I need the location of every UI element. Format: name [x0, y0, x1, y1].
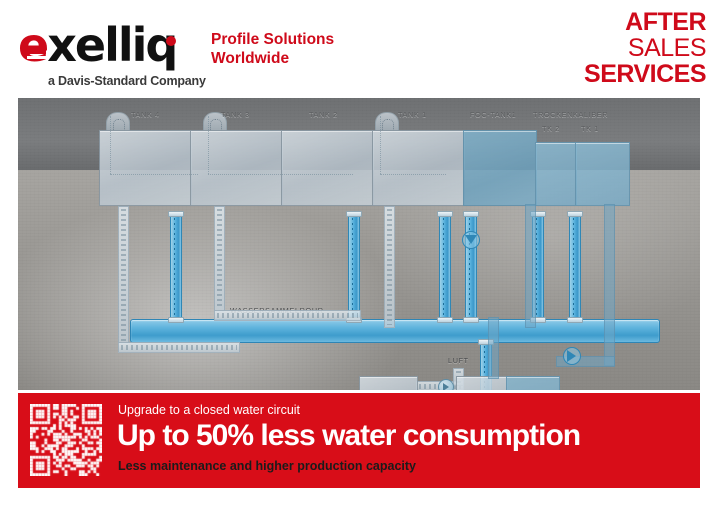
label-tank-2: TANK 2: [309, 110, 338, 119]
tank-1-body: [372, 130, 465, 206]
zyklontank-body: [359, 376, 418, 390]
banner-kicker: Upgrade to a closed water circuit: [118, 403, 300, 417]
logo-e-bar: [27, 50, 46, 54]
after-sales-line-3: SERVICES: [584, 61, 706, 87]
after-sales-line-1: AFTER: [584, 9, 706, 35]
riser-tk1: [569, 213, 581, 321]
logo-e-bar-gap: [27, 56, 46, 59]
banner-subline: Less maintenance and higher production c…: [118, 459, 416, 473]
logo-i-dot: [166, 36, 176, 46]
label-tk-1: TK 1: [581, 124, 599, 133]
trockenkaliber-tk2-body: [535, 142, 577, 206]
blue-loop-valve-icon: [563, 347, 581, 365]
promo-banner: Upgrade to a closed water circuit Up to …: [18, 393, 700, 488]
riser-tank2: [348, 213, 360, 321]
exelliq-logo: exelliq a Davis-Standard Company: [18, 22, 208, 84]
tank1-internal-flow-hint: [380, 116, 381, 174]
page-header: exelliq a Davis-Standard Company Profile…: [0, 0, 720, 98]
label-luft: LUFT: [448, 356, 469, 365]
process-diagram: TANK 4 TANK 3 TANK 2 TANK 1 FOC-TANK1 TR…: [18, 98, 700, 390]
tank1-internal-flow-hint-h: [380, 174, 446, 175]
riser-tank4: [170, 213, 182, 321]
tank1-hood-icon: [375, 112, 399, 131]
foc-tank-valve-icon: [462, 231, 480, 249]
tank-4-body: [99, 130, 192, 206]
tank4-internal-flow-hint: [110, 116, 111, 174]
qr-code[interactable]: [30, 404, 102, 476]
tank-2-body: [281, 130, 374, 206]
wassertank-body-right: [506, 376, 560, 390]
tank3-internal-flow-hint: [208, 116, 209, 174]
blue-return-loop-branch: [488, 317, 499, 379]
trockenkaliber-tk1-body: [575, 142, 630, 206]
after-sales-services-title: AFTER SALES SERVICES: [584, 9, 706, 87]
tank-3-body: [190, 130, 283, 206]
return-pipe-tank3-vertical: [214, 206, 225, 312]
tank3-internal-flow-hint-h: [208, 174, 353, 175]
return-pipe-zyklon-vertical: [384, 206, 395, 328]
label-tank-4: TANK 4: [131, 110, 160, 119]
label-tank-1: TANK 1: [398, 110, 427, 119]
logo-subtitle: a Davis-Standard Company: [48, 74, 206, 88]
blue-return-loop-vertical-right: [604, 204, 615, 366]
label-tank-3: TANK 3: [221, 110, 250, 119]
brand-tagline-line1: Profile Solutions: [211, 30, 334, 49]
label-tk-2: TK 2: [542, 124, 560, 133]
label-foc-tank: FOC-TANK1: [470, 110, 517, 119]
foc-tank-body: [463, 130, 537, 206]
wassertank-body-left: [456, 376, 508, 390]
logo-wordmark: exelliq: [18, 22, 176, 68]
riser-foc-tank: [465, 213, 477, 321]
return-pipe-mid-horizontal: [214, 310, 361, 321]
tank4-internal-flow-hint-h: [110, 174, 198, 175]
brand-tagline-line2: Worldwide: [211, 49, 334, 68]
return-pipe-tank4-horizontal: [118, 342, 240, 353]
blue-return-loop-vertical-mid: [525, 204, 536, 328]
brand-tagline: Profile Solutions Worldwide: [211, 30, 334, 68]
riser-tank1: [439, 213, 451, 321]
after-sales-line-2: SALES: [584, 35, 706, 61]
banner-headline: Up to 50% less water consumption: [117, 419, 580, 453]
luft-pump-icon: [438, 379, 454, 390]
label-trockenkaliber: TROCKENKALIBER: [533, 110, 608, 119]
return-pipe-tank4-vertical: [118, 206, 129, 344]
